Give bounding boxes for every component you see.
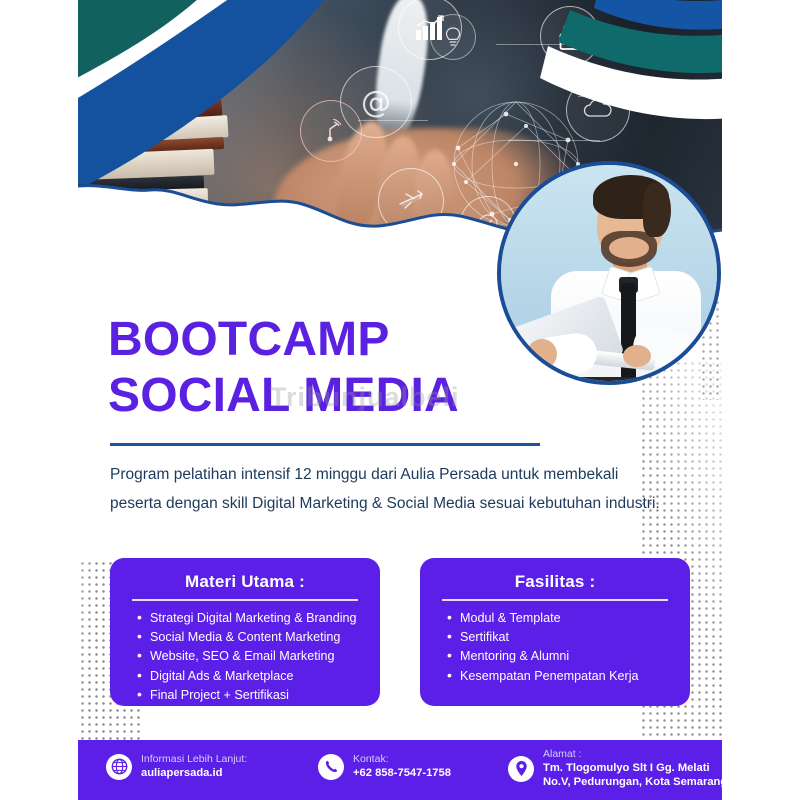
- portrait-belt: [577, 377, 689, 385]
- left-margin-mask: [0, 0, 78, 800]
- map-pin-icon: [508, 756, 534, 782]
- list-item: Mentoring & Alumni: [460, 647, 672, 666]
- footer-address-line2: No.V, Pedurungan, Kota Semarang: [543, 775, 727, 789]
- card-materi-utama: Materi Utama : Strategi Digital Marketin…: [110, 558, 380, 706]
- lightbulb-icon: [430, 14, 476, 60]
- footer-address-line1: Tm. Tlogomulyo Slt I Gg. Melati: [543, 761, 727, 775]
- right-margin-mask: [722, 0, 800, 800]
- page-title: BOOTCAMP SOCIAL MEDIA: [108, 312, 459, 424]
- poster-root: @: [0, 0, 800, 800]
- svg-text:@: @: [361, 85, 391, 120]
- title-divider: [110, 443, 540, 446]
- footer-website-text: Informasi Lebih Lanjut: auliapersada.id: [141, 753, 247, 780]
- portrait-chin: [609, 237, 649, 259]
- card-fasilitas-title: Fasilitas :: [438, 572, 672, 592]
- portrait-necktie: [621, 283, 636, 385]
- card-materi-list: Strategi Digital Marketing & Branding So…: [128, 609, 362, 706]
- list-item: Social Media & Content Marketing: [150, 628, 362, 647]
- list-item: Digital Ads & Marketplace: [150, 667, 362, 686]
- lock-icon: [540, 6, 600, 66]
- portrait-hand-left: [527, 339, 557, 369]
- footer-contact-bar: Informasi Lebih Lanjut: auliapersada.id …: [78, 740, 722, 800]
- headline-line-1: BOOTCAMP: [108, 312, 459, 368]
- footer-phone-value[interactable]: +62 858-7547-1758: [353, 766, 451, 780]
- headline-line-2: SOCIAL MEDIA: [108, 368, 459, 424]
- card-fasilitas: Fasilitas : Modul & Template Sertifikat …: [420, 558, 690, 706]
- instructor-portrait: [497, 161, 721, 385]
- hud-connector-line: [508, 140, 600, 141]
- cloud-icon: [566, 78, 630, 142]
- list-item: Modul & Template: [460, 609, 672, 628]
- portrait-hair-side: [643, 183, 671, 237]
- wifi-icon: [300, 100, 362, 162]
- card-materi-rule: [132, 599, 358, 601]
- portrait-hand-right: [623, 345, 651, 367]
- footer-website-label: Informasi Lebih Lanjut:: [141, 753, 247, 766]
- list-item: Sertifikat: [460, 628, 672, 647]
- globe-icon: [106, 754, 132, 780]
- phone-icon: [318, 754, 344, 780]
- footer-address-text: Alamat : Tm. Tlogomulyo Slt I Gg. Melati…: [543, 748, 727, 789]
- footer-website-block[interactable]: Informasi Lebih Lanjut: auliapersada.id: [106, 753, 247, 780]
- footer-address-block[interactable]: Alamat : Tm. Tlogomulyo Slt I Gg. Melati…: [508, 748, 727, 789]
- footer-phone-text: Kontak: +62 858-7547-1758: [353, 753, 451, 780]
- footer-website-value[interactable]: auliapersada.id: [141, 766, 247, 780]
- list-item: Website, SEO & Email Marketing: [150, 647, 362, 666]
- footer-phone-block[interactable]: Kontak: +62 858-7547-1758: [318, 753, 451, 780]
- card-fasilitas-rule: [442, 599, 668, 601]
- airplane-icon: [378, 168, 444, 234]
- footer-address-label: Alamat :: [543, 748, 727, 761]
- list-item: Final Project + Sertifikasi: [150, 686, 362, 705]
- intro-paragraph: Program pelatihan intensif 12 minggu dar…: [110, 460, 666, 518]
- card-fasilitas-list: Modul & Template Sertifikat Mentoring & …: [438, 609, 672, 687]
- list-item: Kesempatan Penempatan Kerja: [460, 667, 672, 686]
- card-materi-title: Materi Utama :: [128, 572, 362, 592]
- footer-phone-label: Kontak:: [353, 753, 451, 766]
- book-stack-item: [78, 188, 208, 216]
- list-item: Strategi Digital Marketing & Branding: [150, 609, 362, 628]
